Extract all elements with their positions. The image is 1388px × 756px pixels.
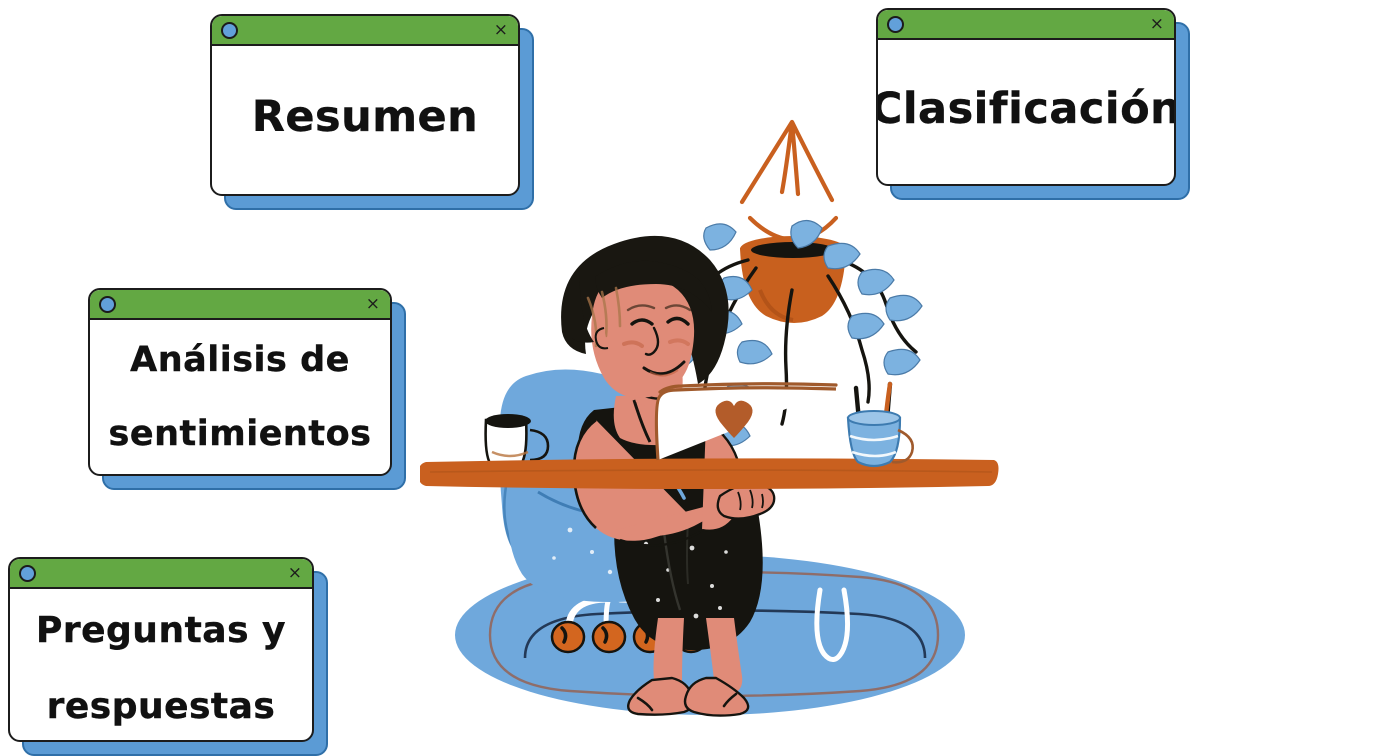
window-body: Análisis de sentimientos	[90, 320, 390, 476]
circle-icon	[99, 296, 116, 313]
close-icon[interactable]: ×	[494, 22, 508, 39]
circle-icon	[19, 565, 36, 582]
desk	[420, 458, 999, 489]
window-body: Preguntas y respuestas	[10, 589, 312, 742]
close-icon[interactable]: ×	[288, 565, 302, 582]
circle-icon	[887, 16, 904, 33]
laptop-icon	[656, 384, 836, 460]
woman-working-on-laptop-illustration	[420, 100, 1000, 752]
window-card-preguntas-y-respuestas[interactable]: × Preguntas y respuestas	[8, 557, 314, 742]
window-card-label: Análisis de sentimientos	[109, 324, 372, 471]
window-card-frame[interactable]: × Análisis de sentimientos	[88, 288, 392, 476]
pen-cup-icon	[848, 384, 913, 466]
circle-icon	[221, 22, 238, 39]
window-titlebar[interactable]: ×	[90, 290, 390, 320]
close-icon[interactable]: ×	[366, 296, 380, 313]
close-icon[interactable]: ×	[1150, 16, 1164, 33]
window-card-analisis-de-sentimientos[interactable]: × Análisis de sentimientos	[88, 288, 392, 476]
window-titlebar[interactable]: ×	[878, 10, 1174, 40]
window-titlebar[interactable]: ×	[212, 16, 518, 46]
window-titlebar[interactable]: ×	[10, 559, 312, 589]
window-card-label: Preguntas y respuestas	[36, 593, 286, 742]
window-card-frame[interactable]: × Preguntas y respuestas	[8, 557, 314, 742]
